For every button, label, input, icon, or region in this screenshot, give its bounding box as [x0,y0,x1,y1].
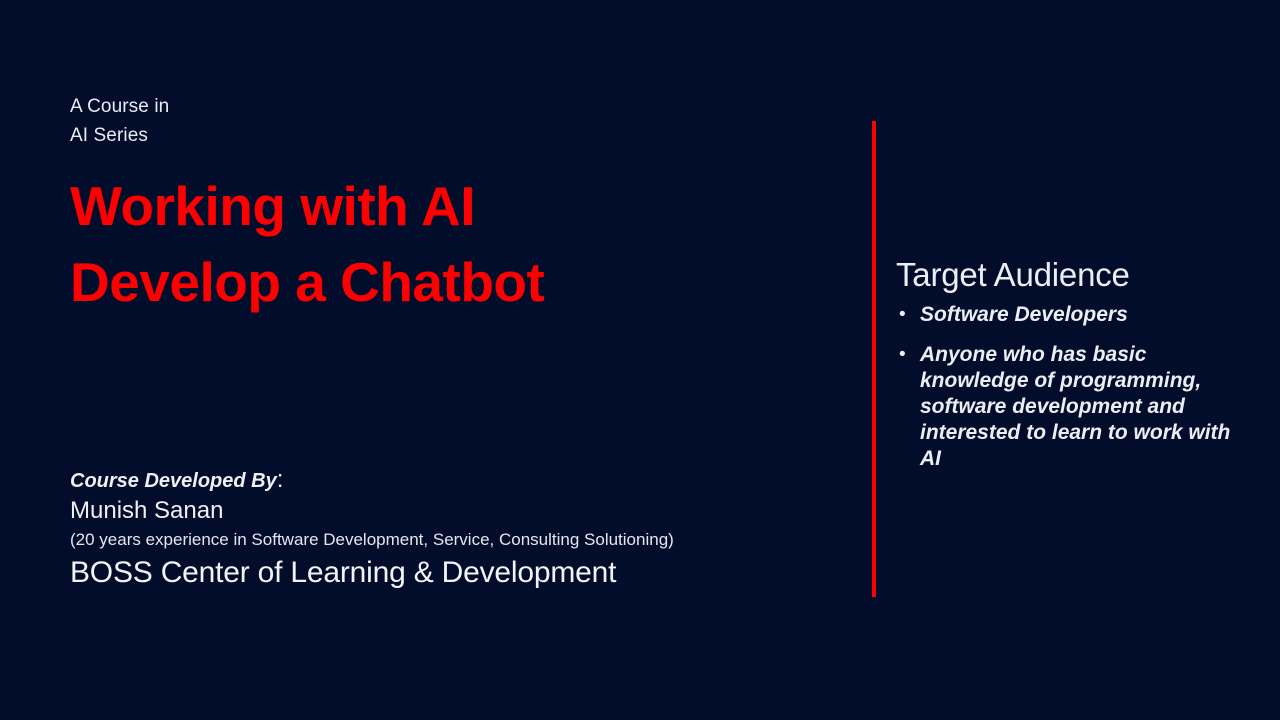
developed-by-text: Course Developed By [70,470,277,492]
bullet-icon: • [899,342,906,368]
list-item-label: Software Developers [920,303,1128,326]
organization-name: BOSS Center of Learning & Development [70,552,860,594]
left-column: A Course in AI Series Working with AI De… [70,92,830,320]
course-series-block: A Course in AI Series [70,92,830,150]
target-audience-list: • Software Developers • Anyone who has b… [896,302,1231,472]
developed-by-label: Course Developed By: [70,466,860,495]
target-audience-heading: Target Audience [896,254,1231,296]
series-line-1: A Course in [70,92,830,121]
list-item: • Software Developers [896,302,1231,328]
target-audience-panel: Target Audience • Software Developers • … [896,254,1231,472]
author-experience: (20 years experience in Software Develop… [70,527,860,552]
course-title-line-2: Develop a Chatbot [70,244,830,320]
course-title: Working with AI Develop a Chatbot [70,168,830,320]
list-item-label: Anyone who has basic knowledge of progra… [920,343,1230,470]
series-line-2: AI Series [70,121,830,150]
bullet-icon: • [899,302,906,328]
title-slide: A Course in AI Series Working with AI De… [0,0,1280,720]
vertical-red-divider [872,121,876,597]
course-title-line-1: Working with AI [70,168,830,244]
developed-by-colon: : [277,466,284,493]
list-item: • Anyone who has basic knowledge of prog… [896,342,1231,472]
credits-block: Course Developed By: Munish Sanan (20 ye… [70,466,860,594]
author-name: Munish Sanan [70,495,860,527]
